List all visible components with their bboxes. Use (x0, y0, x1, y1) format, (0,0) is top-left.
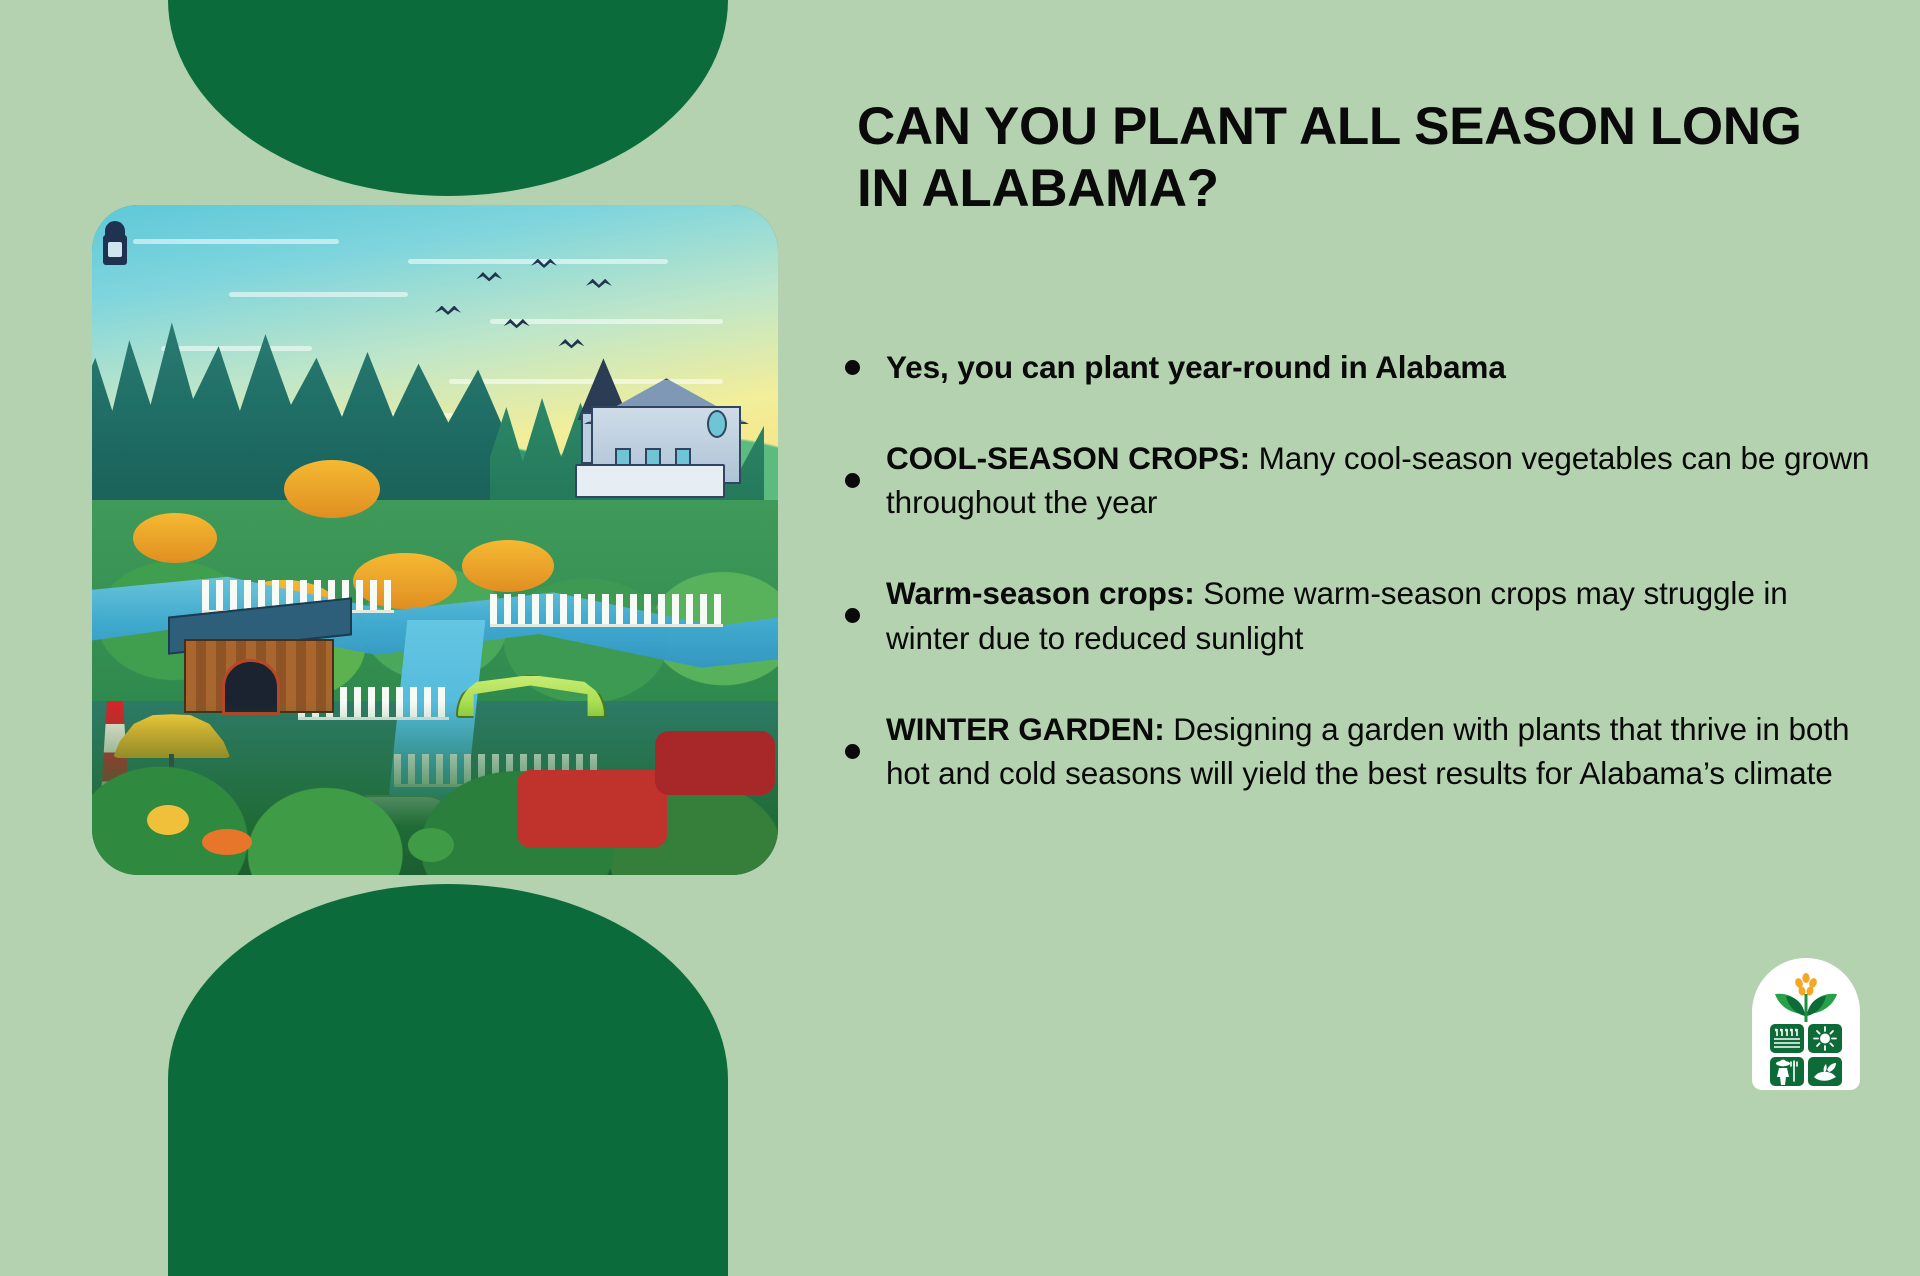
content-column: CAN YOU PLANT ALL SEASON LONG IN ALABAMA… (845, 0, 1875, 1080)
bullet-lead: COOL-SEASON CROPS: (886, 440, 1250, 476)
list-item: COOL-SEASON CROPS: Many cool-season vege… (845, 436, 1875, 525)
sun-icon (1808, 1024, 1842, 1053)
tree-canopy (133, 513, 217, 563)
list-item: Yes, you can plant year-round in Alabama (845, 345, 1875, 390)
bullet-body: Warm-season crops: Some warm-season crop… (886, 571, 1875, 660)
flower-bed-red (517, 770, 667, 848)
flower-bed-red (655, 731, 775, 795)
bullet-lead: WINTER GARDEN: (886, 711, 1165, 747)
tree-canopy (462, 540, 554, 592)
picket-fence (490, 594, 723, 627)
list-item: Warm-season crops: Some warm-season crop… (845, 571, 1875, 660)
hand-sprout-icon (1808, 1057, 1842, 1086)
victorian-house-icon (569, 352, 757, 504)
sprouting-plant-icon (1769, 972, 1843, 1022)
page-title: CAN YOU PLANT ALL SEASON LONG IN ALABAMA… (857, 96, 1867, 220)
tree-canopy (284, 460, 380, 518)
farmer-icon (1770, 1057, 1804, 1086)
bullet-lead: Warm-season crops: (886, 575, 1195, 611)
produce (147, 805, 189, 835)
list-item: WINTER GARDEN: Designing a garden with p… (845, 707, 1875, 796)
bullet-body: WINTER GARDEN: Designing a garden with p… (886, 707, 1875, 796)
bullet-dot-icon (845, 473, 860, 488)
bullet-rest: Yes, you can plant year-round in Alabama (886, 349, 1506, 385)
bullet-list: Yes, you can plant year-round in Alabama… (845, 345, 1875, 842)
bullet-body: Yes, you can plant year-round in Alabama (886, 345, 1506, 390)
bullet-dot-icon (845, 608, 860, 623)
garden-illustration (92, 205, 778, 875)
decorative-dome-bottom (168, 884, 728, 1276)
bullet-body: COOL-SEASON CROPS: Many cool-season vege… (886, 436, 1875, 525)
logo-badge (1752, 958, 1860, 1090)
bullet-dot-icon (845, 360, 860, 375)
produce (202, 829, 252, 855)
logo-icon-grid (1770, 1024, 1842, 1086)
decorative-dome-top (168, 0, 728, 196)
crop-rows-icon (1770, 1024, 1804, 1053)
produce (408, 828, 454, 862)
bullet-dot-icon (845, 744, 860, 759)
